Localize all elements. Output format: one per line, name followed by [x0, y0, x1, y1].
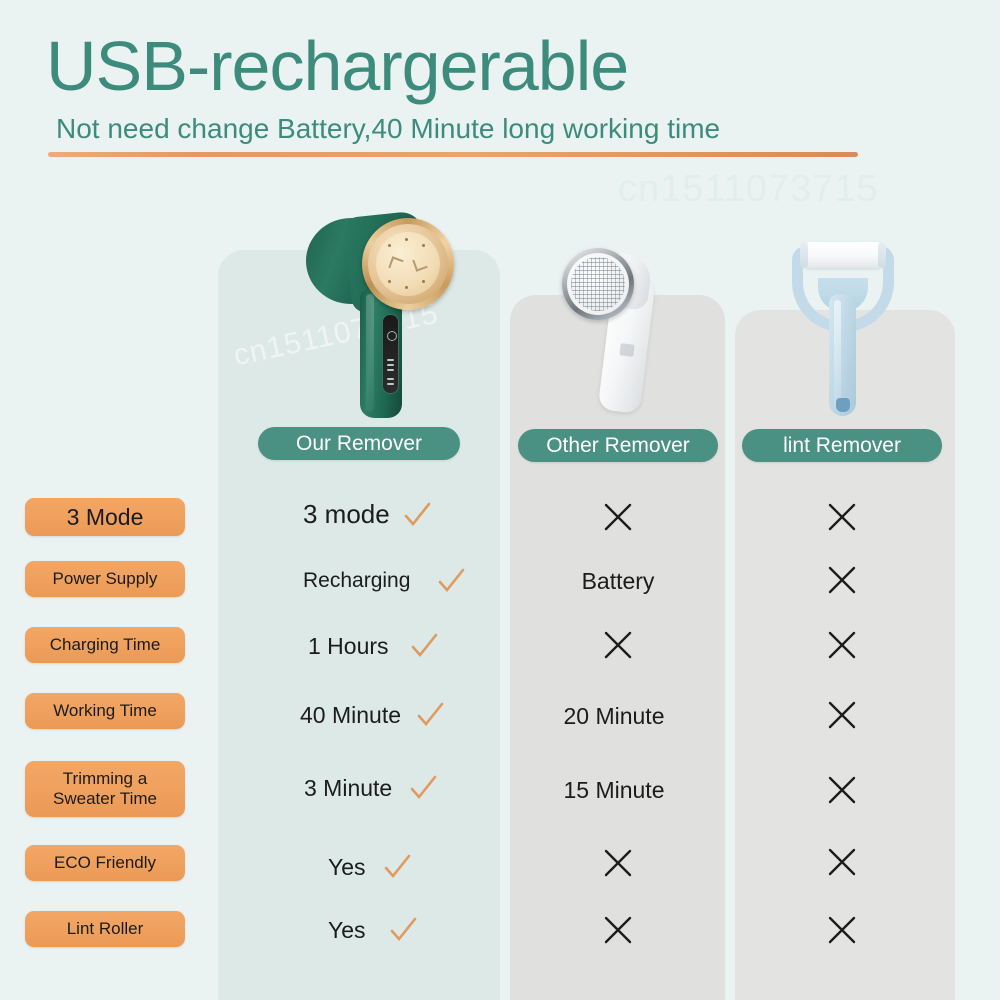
cell-other-3-mode [518, 500, 718, 534]
cell-value: 3 Minute [304, 775, 392, 802]
column-header-our-remover[interactable]: Our Remover [258, 427, 460, 460]
device-handle-highlight [366, 294, 374, 412]
watermark-text: cn1511073715 [618, 168, 879, 211]
cell-our-trimming-time: 3 Minute [304, 773, 438, 803]
feature-label-lint-roller[interactable]: Lint Roller [25, 911, 185, 947]
header-divider [48, 152, 858, 157]
speed-indicator-bar [387, 383, 394, 385]
column-header-lint-remover[interactable]: lint Remover [742, 429, 942, 462]
lint-roller-device [788, 240, 898, 420]
column-header-label: Our Remover [296, 432, 422, 456]
roller-handle-foot [836, 398, 850, 412]
cross-icon [825, 845, 859, 879]
mesh-dot [405, 238, 408, 241]
check-icon [415, 700, 445, 730]
cross-icon [825, 628, 859, 662]
check-icon [402, 500, 432, 530]
feature-label-eco-friendly[interactable]: ECO Friendly [25, 845, 185, 881]
feature-label-charging-time[interactable]: Charging Time [25, 627, 185, 663]
cell-other-working-time: 20 Minute [514, 699, 714, 733]
cell-our-3-mode: 3 mode [303, 499, 432, 530]
feature-label-working-time[interactable]: Working Time [25, 693, 185, 729]
cross-icon [825, 500, 859, 534]
cell-lint-lint-roller [742, 913, 942, 947]
mesh-texture [571, 257, 625, 311]
feature-label-text: Working Time [53, 701, 157, 721]
cell-value: 20 Minute [563, 703, 664, 730]
cell-other-charging-time [518, 628, 718, 662]
roller-end-cap-right [878, 242, 886, 268]
cell-lint-charging-time [742, 628, 942, 662]
cross-icon [601, 500, 635, 534]
speed-indicator-bar [387, 359, 394, 361]
infographic-canvas: USB-rechargerable Not need change Batter… [0, 0, 1000, 1000]
cell-other-trimming-time: 15 Minute [514, 773, 714, 807]
device-blade-mesh [376, 232, 440, 296]
other-remover-device [560, 248, 680, 418]
cell-other-eco-friendly [518, 846, 718, 880]
cell-value: 15 Minute [563, 777, 664, 804]
roller-barrel [802, 242, 884, 268]
feature-label-power-supply[interactable]: Power Supply [25, 561, 185, 597]
cell-value: 3 mode [303, 499, 390, 530]
cell-our-power-supply: Recharging [303, 566, 466, 596]
mesh-dot [405, 286, 408, 289]
check-icon [408, 773, 438, 803]
mesh-dot [422, 244, 425, 247]
check-icon [382, 852, 412, 882]
cell-value: 1 Hours [308, 633, 389, 660]
speed-indicator-bar [387, 369, 394, 371]
cell-value: Yes [328, 854, 366, 881]
cross-icon [825, 563, 859, 597]
mesh-dot [388, 280, 391, 283]
cross-icon [601, 846, 635, 880]
our-remover-device [300, 212, 460, 417]
feature-label-text-line1: Trimming a [63, 769, 147, 789]
cross-icon [825, 698, 859, 732]
page-title: USB-rechargerable [46, 24, 628, 108]
feature-label-text: Power Supply [53, 569, 158, 589]
cross-icon [601, 628, 635, 662]
check-icon [436, 566, 466, 596]
cell-lint-3-mode [742, 500, 942, 534]
cell-our-eco-friendly: Yes [328, 852, 412, 882]
cell-our-working-time: 40 Minute [300, 700, 445, 730]
cell-lint-trimming-time [742, 773, 942, 807]
cell-our-charging-time: 1 Hours [308, 631, 439, 661]
cell-our-lint-roller: Yes [328, 915, 418, 945]
cross-icon [825, 913, 859, 947]
feature-label-text: Lint Roller [67, 919, 144, 939]
cell-other-power-supply: Battery [518, 564, 718, 598]
device-control-panel [382, 314, 399, 394]
device-mesh-screen [571, 257, 625, 311]
feature-label-text: Charging Time [50, 635, 161, 655]
cell-other-lint-roller [518, 913, 718, 947]
column-header-other-remover[interactable]: Other Remover [518, 429, 718, 462]
speed-indicator-bar [387, 364, 394, 366]
mesh-dot [388, 244, 391, 247]
cell-lint-eco-friendly [742, 845, 942, 879]
page-subtitle: Not need change Battery,40 Minute long w… [56, 112, 720, 146]
mesh-dot [422, 280, 425, 283]
cell-value: Recharging [303, 569, 410, 593]
device-logo [619, 343, 634, 357]
check-icon [409, 631, 439, 661]
column-header-label: Other Remover [546, 434, 690, 458]
column-header-label: lint Remover [783, 434, 901, 458]
feature-label-trimming-sweater-time[interactable]: Trimming a Sweater Time [25, 761, 185, 817]
roller-handle-highlight [834, 300, 841, 408]
feature-label-text: ECO Friendly [54, 853, 156, 873]
power-icon [387, 331, 397, 341]
cell-value: Battery [582, 568, 655, 595]
cell-value: Yes [328, 917, 366, 944]
cell-value: 40 Minute [300, 702, 401, 729]
speed-indicator-bar [387, 378, 394, 380]
cross-icon [601, 913, 635, 947]
check-icon [388, 915, 418, 945]
cell-lint-working-time [742, 698, 942, 732]
feature-label-3-mode[interactable]: 3 Mode [25, 498, 185, 536]
roller-end-cap-left [800, 242, 808, 268]
cell-lint-power-supply [742, 563, 942, 597]
cross-icon [825, 773, 859, 807]
feature-label-text: 3 Mode [67, 507, 144, 527]
feature-label-text-line2: Sweater Time [53, 789, 157, 809]
